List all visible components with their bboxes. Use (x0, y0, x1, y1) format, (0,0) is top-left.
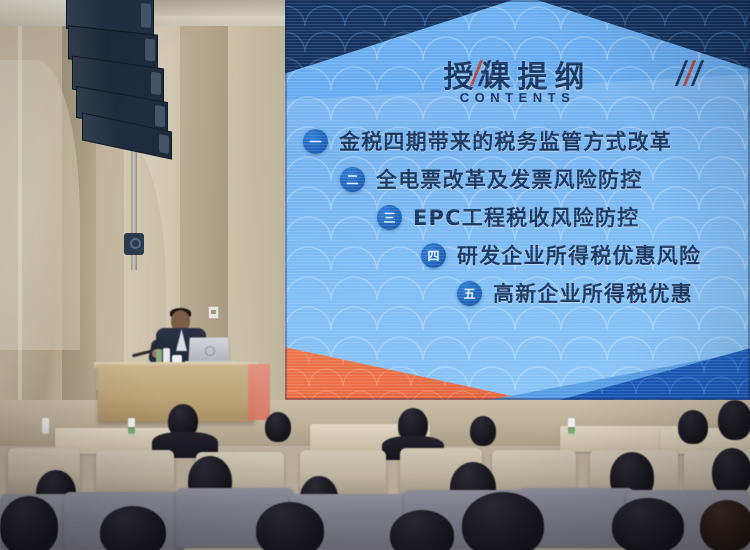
outline-number-badge: 四 (421, 243, 446, 268)
slide-outline-item: 三EPC工程税收风险防控 (285, 198, 750, 236)
audience-head (470, 416, 496, 446)
water-bottle (568, 418, 575, 434)
audience-head (678, 410, 708, 444)
audience-head (700, 500, 750, 550)
slide-title-block: 授课提纲 CONTENTS (285, 52, 750, 114)
podium-side-panel (248, 364, 270, 420)
water-bottle (128, 418, 135, 434)
led-presentation-screen: 授课提纲 CONTENTS 一金税四期带来的税务监管方式改革二全电票改革及发票风… (285, 0, 750, 400)
audience-head (256, 502, 324, 550)
audience-head (712, 448, 750, 496)
slide-outline-item: 四研发企业所得税优惠风险 (285, 236, 750, 274)
wall-outlet (208, 306, 219, 319)
outline-number-badge: 五 (457, 281, 482, 306)
ceiling-soffit (138, 0, 288, 16)
wall-panel (228, 0, 286, 420)
audience-head (612, 498, 684, 550)
audience-head (462, 492, 544, 550)
lecture-hall-photo: 授课提纲 CONTENTS 一金税四期带来的税务监管方式改革二全电票改革及发票风… (0, 0, 750, 550)
water-bottle (156, 349, 162, 363)
slide-outline-item: 一金税四期带来的税务监管方式改革 (285, 122, 750, 160)
water-bottle (42, 418, 49, 434)
speaker-bracket (124, 233, 144, 255)
outline-item-text: 高新企业所得税优惠 (493, 278, 693, 308)
outline-number-badge: 一 (303, 129, 328, 154)
slide-outline-item: 五高新企业所得税优惠 (285, 274, 750, 312)
slide-outline-item: 二全电票改革及发票风险防控 (285, 160, 750, 198)
audience-head (718, 400, 750, 440)
outline-item-text: 全电票改革及发票风险防控 (376, 164, 642, 194)
slide-outline-list: 一金税四期带来的税务监管方式改革二全电票改革及发票风险防控三EPC工程税收风险防… (285, 122, 750, 312)
wall-seam (18, 0, 22, 420)
audience-head (265, 412, 291, 442)
outline-number-badge: 二 (340, 167, 365, 192)
slide-title-en: CONTENTS (285, 90, 750, 105)
outline-item-text: EPC工程税收风险防控 (413, 202, 639, 232)
outline-item-text: 金税四期带来的税务监管方式改革 (339, 126, 672, 156)
water-bottle (163, 348, 170, 363)
laptop-icon (188, 338, 229, 364)
outline-number-badge: 三 (377, 205, 402, 230)
outline-item-text: 研发企业所得税优惠风险 (457, 240, 701, 270)
audience-head (0, 496, 58, 550)
audience-head (100, 506, 166, 550)
audience-seat (96, 450, 174, 498)
